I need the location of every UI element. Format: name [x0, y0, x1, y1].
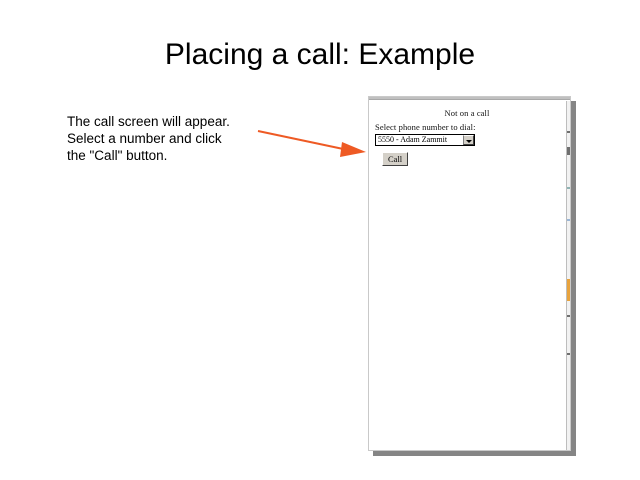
scrollbar-mark: [567, 219, 570, 221]
call-status-text: Not on a call: [375, 108, 559, 118]
call-screen-content: Not on a call Select phone number to dia…: [369, 101, 565, 450]
slide-body-text: The call screen will appear. Select a nu…: [67, 113, 297, 164]
page-title: Placing a call: Example: [0, 40, 640, 70]
body-line-2: Select a number and click: [67, 130, 297, 147]
scrollbar-mark: [567, 187, 570, 189]
scrollbar-thumb[interactable]: [567, 147, 570, 155]
phone-number-select[interactable]: 5550 - Adam Zammit: [375, 134, 475, 146]
chevron-down-icon[interactable]: [463, 135, 474, 145]
browser-toolbar-separator: [369, 97, 570, 100]
body-line-3: the "Call" button.: [67, 147, 297, 164]
dial-number-label: Select phone number to dial:: [375, 122, 559, 132]
embedded-call-screen-screenshot: Not on a call Select phone number to dia…: [368, 96, 571, 451]
scrollbar-mark: [567, 353, 570, 355]
scrollbar-mark: [567, 315, 570, 317]
body-line-1: The call screen will appear.: [67, 113, 297, 130]
scrollbar-mark: [567, 279, 570, 301]
caret-glyph: [466, 140, 472, 143]
call-button[interactable]: Call: [382, 152, 408, 166]
vertical-scrollbar[interactable]: [566, 101, 570, 450]
phone-number-select-value: 5550 - Adam Zammit: [378, 135, 460, 145]
scrollbar-mark: [567, 131, 570, 133]
